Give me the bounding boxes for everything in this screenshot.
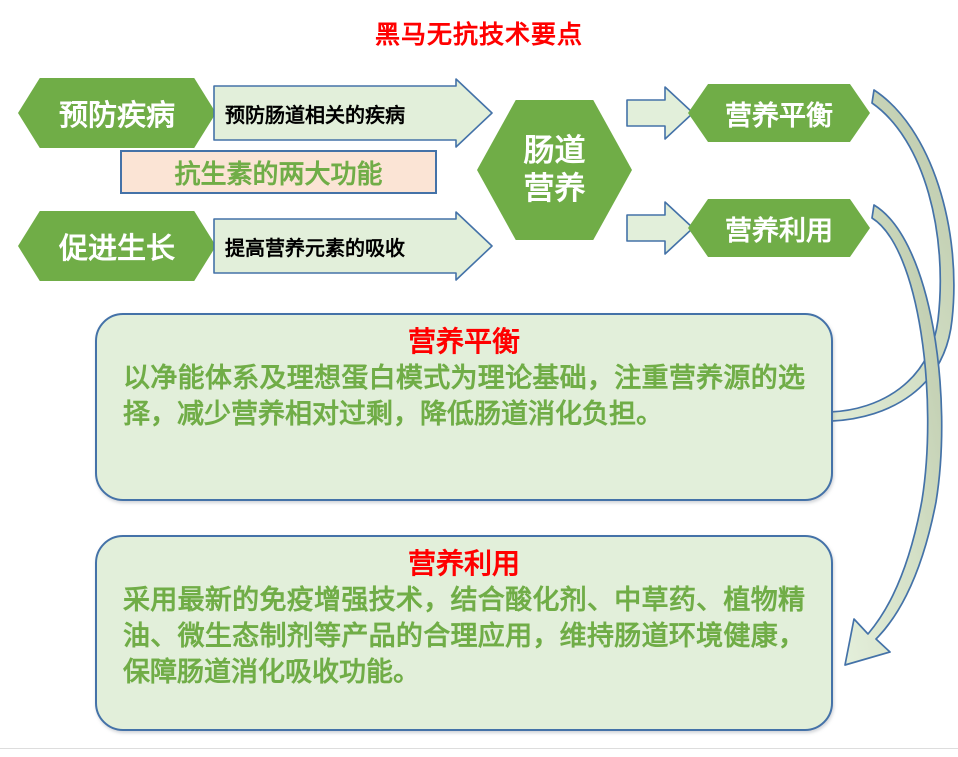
hexagon-gut-nutrition-line2: 营养 [524, 170, 586, 208]
panel-nutrition-utilization-heading: 营养利用 [123, 547, 805, 581]
panel-nutrition-utilization-body: 采用最新的免疫增强技术，结合酸化剂、中草药、植物精油、微生态制剂等产品的合理应用… [123, 583, 805, 691]
hexagon-nutrition-utilization[interactable]: 营养利用 [688, 199, 870, 257]
hexagon-nutrition-utilization-label: 营养利用 [725, 209, 833, 248]
right-arrow-icon [625, 83, 695, 143]
hexagon-gut-nutrition-line1: 肠道 [524, 132, 586, 170]
caption-box-two-functions[interactable]: 抗生素的两大功能 [120, 150, 437, 194]
arrow-prevent-disease-detail[interactable]: 预防肠道相关的疾病 [213, 78, 493, 148]
bottom-divider [0, 748, 958, 749]
page-title: 黑马无抗技术要点 [0, 20, 958, 50]
panel-nutrition-utilization[interactable]: 营养利用 采用最新的免疫增强技术，结合酸化剂、中草药、植物精油、微生态制剂等产品… [95, 535, 833, 731]
curved-arrow-utilization [845, 205, 942, 665]
connector-arrow-to-balance [625, 83, 695, 143]
hexagon-promote-growth[interactable]: 促进生长 [18, 211, 216, 281]
hexagon-promote-growth-label: 促进生长 [59, 225, 175, 267]
hexagon-nutrition-balance-label: 营养平衡 [725, 94, 833, 133]
hexagon-gut-nutrition[interactable]: 肠道 营养 [477, 100, 632, 240]
right-arrow-icon [625, 198, 695, 258]
hexagon-prevent-disease-label: 预防疾病 [59, 92, 175, 134]
arrow-promote-growth-detail[interactable]: 提高营养元素的吸收 [213, 211, 493, 281]
panel-nutrition-balance-heading: 营养平衡 [123, 325, 805, 359]
connector-arrow-to-utilization [625, 198, 695, 258]
hexagon-prevent-disease[interactable]: 预防疾病 [18, 78, 216, 148]
caption-box-two-functions-label: 抗生素的两大功能 [174, 154, 382, 191]
arrow-promote-growth-label: 提高营养元素的吸收 [213, 232, 405, 261]
slide-canvas: 黑马无抗技术要点 预防疾病 预防肠道相关的疾病 抗生素的两大功能 促进生长 提高… [0, 0, 958, 757]
hexagon-nutrition-balance[interactable]: 营养平衡 [688, 84, 870, 142]
panel-nutrition-balance-body: 以净能体系及理想蛋白模式为理论基础，注重营养源的选择，减少营养相对过剩，降低肠道… [123, 361, 805, 433]
arrow-prevent-disease-label: 预防肠道相关的疾病 [213, 99, 405, 128]
panel-nutrition-balance[interactable]: 营养平衡 以净能体系及理想蛋白模式为理论基础，注重营养源的选择，减少营养相对过剩… [95, 313, 833, 501]
